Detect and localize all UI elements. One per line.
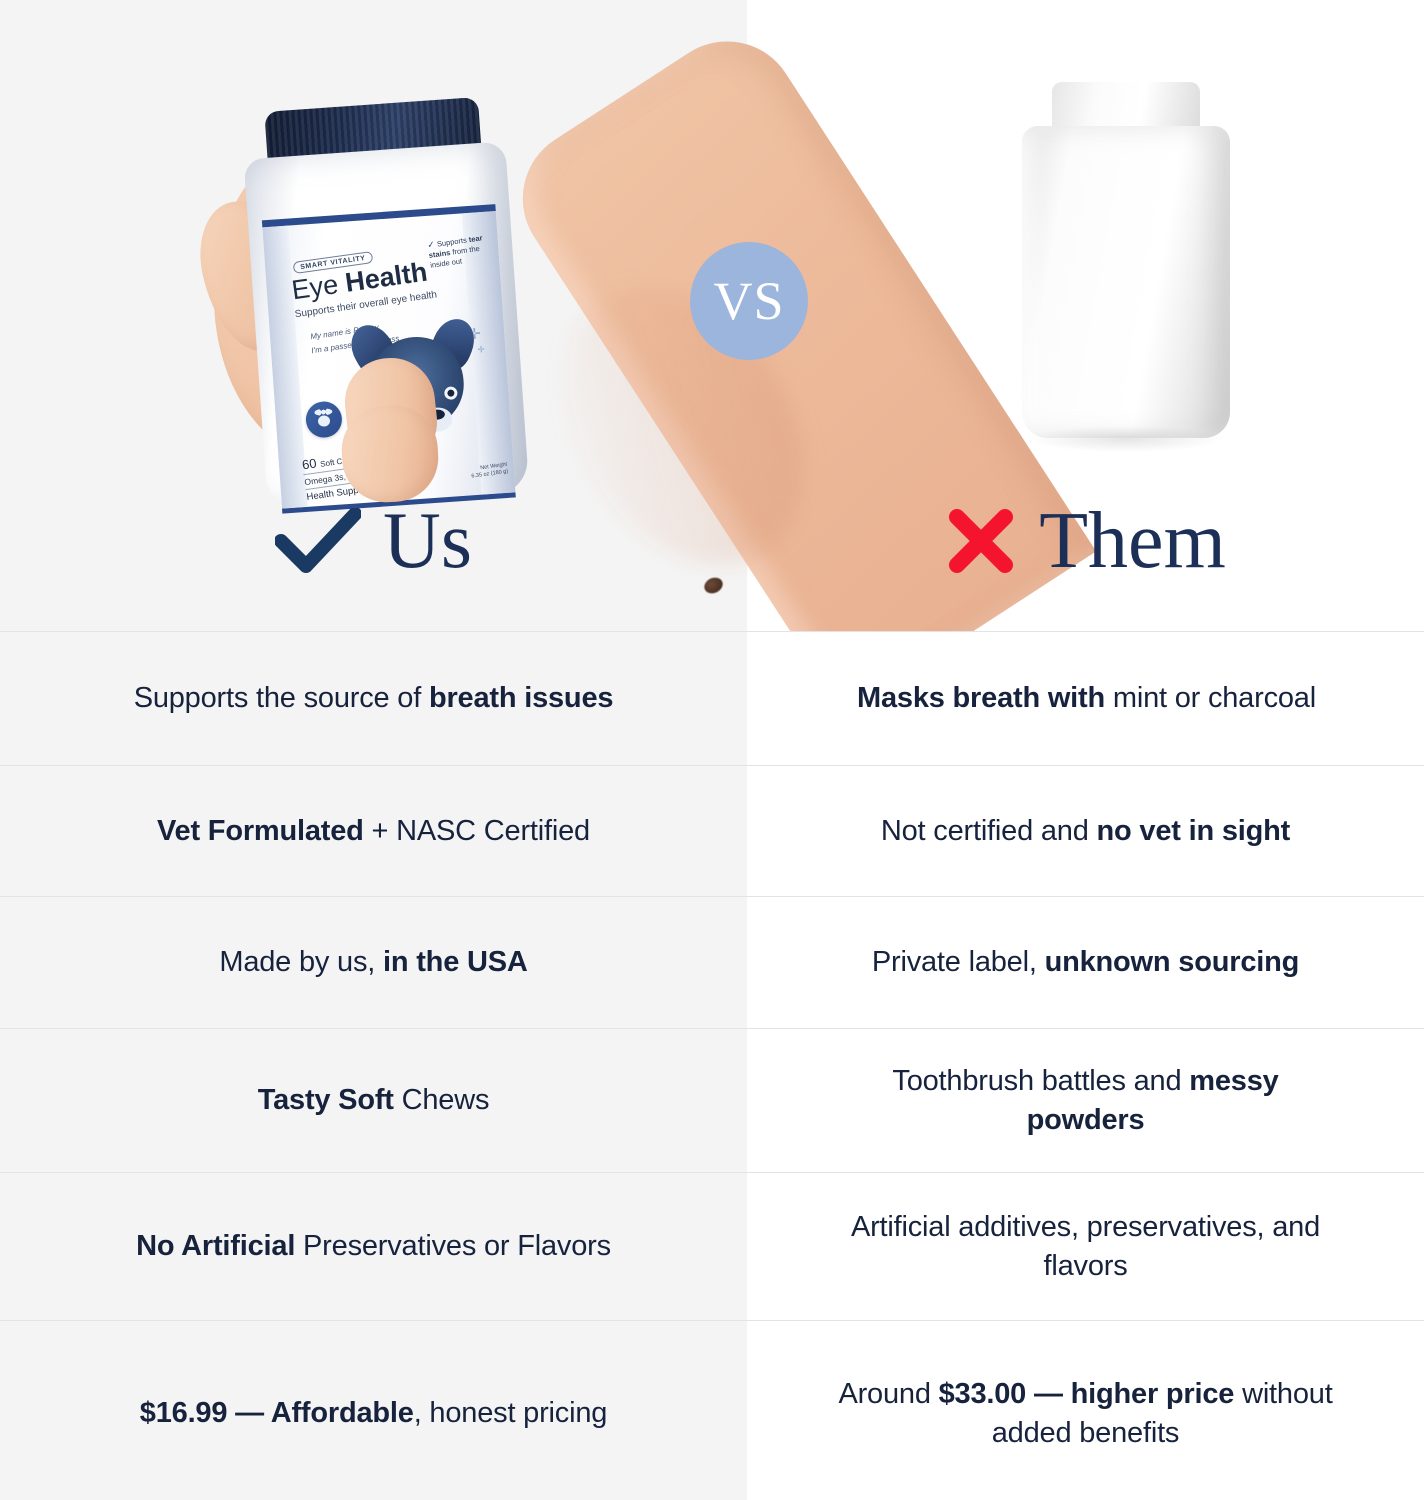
table-row: Tasty Soft Chews Toothbrush battles and … [0,1028,1424,1172]
row-1-us-cell: Supports the source of breath issues [0,632,747,765]
row-3-us-bold: in the USA [383,946,528,978]
us-header: Us [0,486,747,596]
them-header: Them [747,486,1424,596]
competitor-jar [1022,82,1230,438]
x-icon [945,505,1017,577]
dog-eye-right [444,386,458,400]
comparison-infographic: SMART VITALITY Eye Health Supports their… [0,0,1424,1500]
row-6-us-cell: $16.99 — Affordable, honest pricing [0,1321,747,1500]
hero-section: SMART VITALITY Eye Health Supports their… [0,0,1424,631]
row-4-them-pre: Toothbrush battles and [892,1065,1189,1097]
row-2-them-pre: Not certified and [881,815,1097,847]
row-1-us-pre: Supports the source of [134,682,429,714]
us-header-label: Us [383,501,472,581]
row-3-them-bold: unknown sourcing [1045,946,1300,978]
table-row: No Artificial Preservatives or Flavors A… [0,1172,1424,1320]
sparkle-icon-small: ✛ [477,344,485,355]
row-3-them-pre: Private label, [872,946,1045,978]
row-2-us-post: + NASC Certified [364,815,590,847]
row-5-us-cell: No Artificial Preservatives or Flavors [0,1173,747,1320]
row-2-them-cell: Not certified and no vet in sight [747,766,1424,896]
row-3-us-pre: Made by us, [219,946,383,978]
row-1-them-cell: Masks breath with mint or charcoal [747,632,1424,765]
row-2-them-bold: no vet in sight [1097,815,1291,847]
row-5-us-post: Preservatives or Flavors [295,1230,611,1262]
vs-badge: VS [690,242,808,360]
competitor-jar-shadow [1030,426,1222,452]
row-4-us-cell: Tasty Soft Chews [0,1029,747,1172]
check-icon [275,508,361,574]
paw-badge-icon [305,400,343,438]
table-row: $16.99 — Affordable, honest pricing Arou… [0,1320,1424,1500]
row-3-them-cell: Private label, unknown sourcing [747,897,1424,1028]
row-6-them-cell: Around $33.00 — higher price without add… [747,1321,1424,1500]
table-row: Vet Formulated + NASC Certified Not cert… [0,765,1424,896]
row-2-us-bold: Vet Formulated [157,815,364,847]
comparison-table: Supports the source of breath issues Mas… [0,631,1424,1500]
row-1-them-bold: Masks breath with [857,682,1105,714]
row-3-us-cell: Made by us, in the USA [0,897,747,1028]
row-6-us-post: , honest pricing [414,1397,607,1429]
row-5-them-cell: Artificial additives, preservatives, and… [747,1173,1424,1320]
row-4-us-post: Chews [394,1084,490,1116]
competitor-jar-lid [1052,82,1200,132]
them-header-label: Them [1039,501,1226,581]
row-4-them-cell: Toothbrush battles and messy powders [747,1029,1424,1172]
label-check-icon: ✓ [427,239,436,250]
competitor-jar-body [1022,126,1230,438]
table-row: Made by us, in the USA Private label, un… [0,896,1424,1028]
vs-badge-label: VS [713,274,784,328]
row-1-them-post: mint or charcoal [1105,682,1316,714]
row-6-them-pre: Around [838,1378,938,1410]
row-4-us-bold: Tasty Soft [258,1084,394,1116]
row-6-us-bold: $16.99 — Affordable [140,1397,414,1429]
row-2-us-cell: Vet Formulated + NASC Certified [0,766,747,896]
product-title-light: Eye [290,268,348,305]
row-1-us-bold: breath issues [429,682,613,714]
table-row: Supports the source of breath issues Mas… [0,631,1424,765]
row-5-them-pre: Artificial additives, preservatives, and… [851,1211,1320,1282]
row-5-us-bold: No Artificial [136,1230,295,1262]
chew-count-number: 60 [301,455,317,472]
row-6-them-bold: $33.00 — higher price [939,1378,1235,1410]
